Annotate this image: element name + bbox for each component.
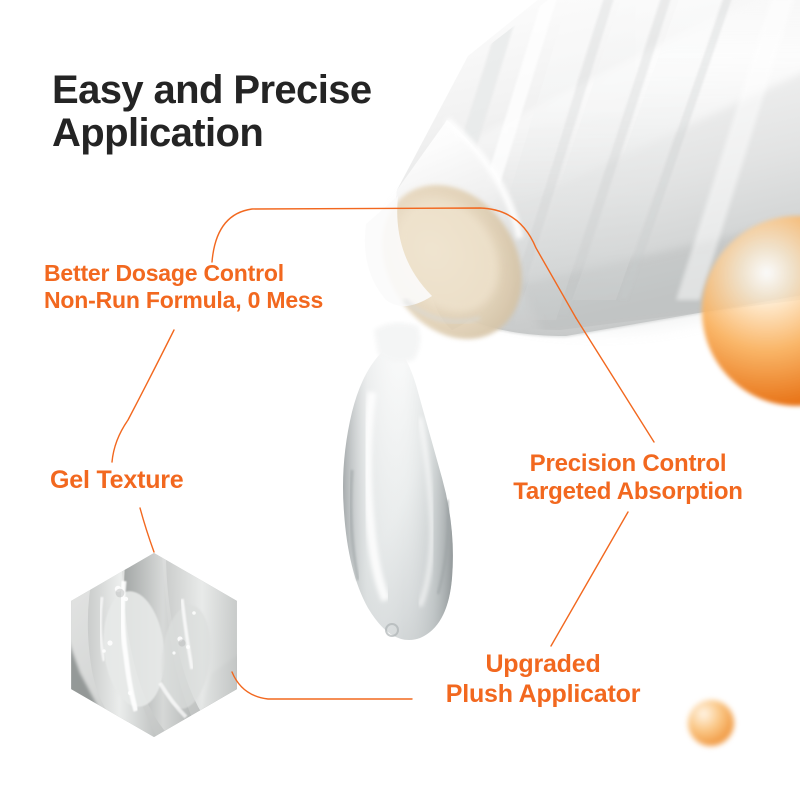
callout-precision-control: Precision Control Targeted Absorption [478,450,778,507]
callout-better-dosage-control: Better Dosage Control Non-Run Formula, 0… [44,260,323,314]
gel-texture-hexagon-inset [62,553,246,737]
small-orange-droplet [688,700,734,746]
callout-upgraded-plush-applicator: Upgraded Plush Applicator [418,650,668,709]
page-title: Easy and Precise Application [52,69,372,155]
infographic-canvas: Easy and Precise Application Better Dosa… [0,0,800,800]
callout-gel-texture: Gel Texture [50,466,184,496]
gel-on-fingers-photo [62,553,246,737]
gel-drop [343,323,453,640]
